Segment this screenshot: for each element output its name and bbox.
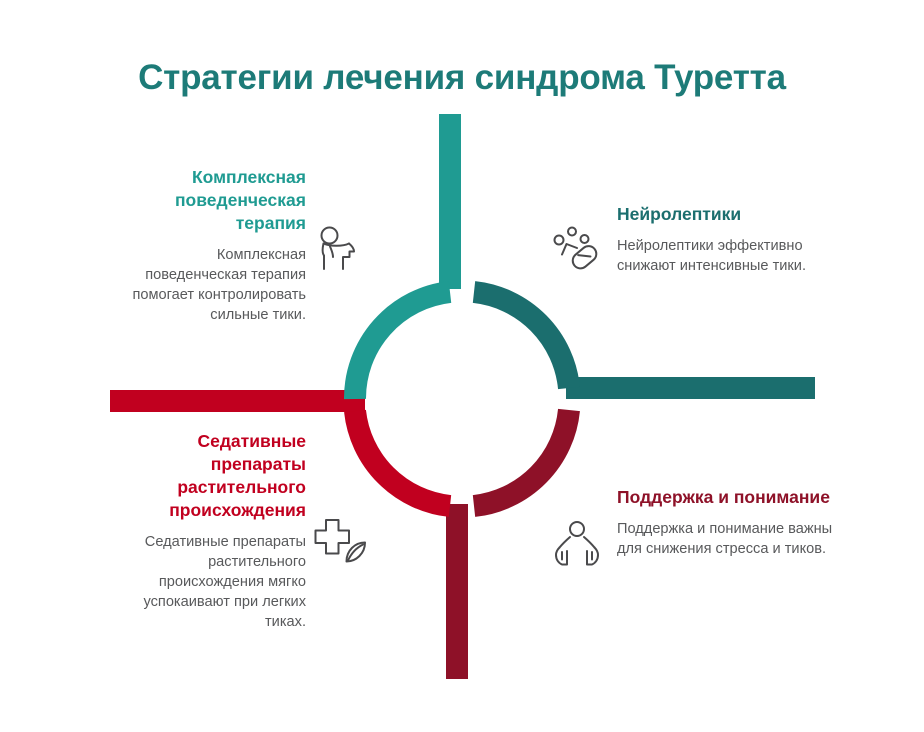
- quadrant-neuroleptics-heading: Нейролептики: [617, 203, 832, 226]
- spoke-top: [439, 114, 461, 289]
- page-title: Стратегии лечения синдрома Туретта: [0, 58, 924, 98]
- pills-capsule-icon: [552, 226, 600, 272]
- quadrant-support-body: Поддержка и понимание важны для снижения…: [617, 519, 837, 559]
- quadrant-neuroleptics: Нейролептики Нейролептики эффективно сни…: [617, 203, 832, 276]
- quadrant-sedatives-heading: Седативные препараты растительного проис…: [112, 430, 306, 522]
- spoke-left: [110, 390, 365, 412]
- arc-bottom-right: [474, 410, 569, 506]
- quadrant-behavioral: Комплексная поведенческая терапия Компле…: [118, 166, 306, 325]
- arc-bottom-left: [355, 411, 450, 506]
- quadrant-behavioral-heading: Комплексная поведенческая терапия: [118, 166, 306, 235]
- arc-top-right: [474, 292, 569, 388]
- infographic-canvas: Стратегии лечения синдрома Туретта: [0, 0, 924, 732]
- quadrant-neuroleptics-body: Нейролептики эффективно снижают интенсив…: [617, 236, 832, 276]
- supporting-hands-person-icon: [553, 521, 601, 567]
- medical-cross-leaf-icon: [311, 517, 369, 565]
- person-open-head-icon: [313, 226, 357, 272]
- quadrant-support-heading: Поддержка и понимание: [617, 486, 837, 509]
- spoke-bottom: [446, 504, 468, 679]
- arc-top-left: [355, 292, 450, 399]
- spoke-right: [566, 377, 815, 399]
- quadrant-sedatives-body: Седативные препараты растительного проис…: [112, 532, 306, 632]
- quadrant-sedatives: Седативные препараты растительного проис…: [112, 430, 306, 632]
- quadrant-support: Поддержка и понимание Поддержка и понима…: [617, 486, 837, 559]
- quadrant-behavioral-body: Комплексная поведенческая терапия помога…: [118, 245, 306, 325]
